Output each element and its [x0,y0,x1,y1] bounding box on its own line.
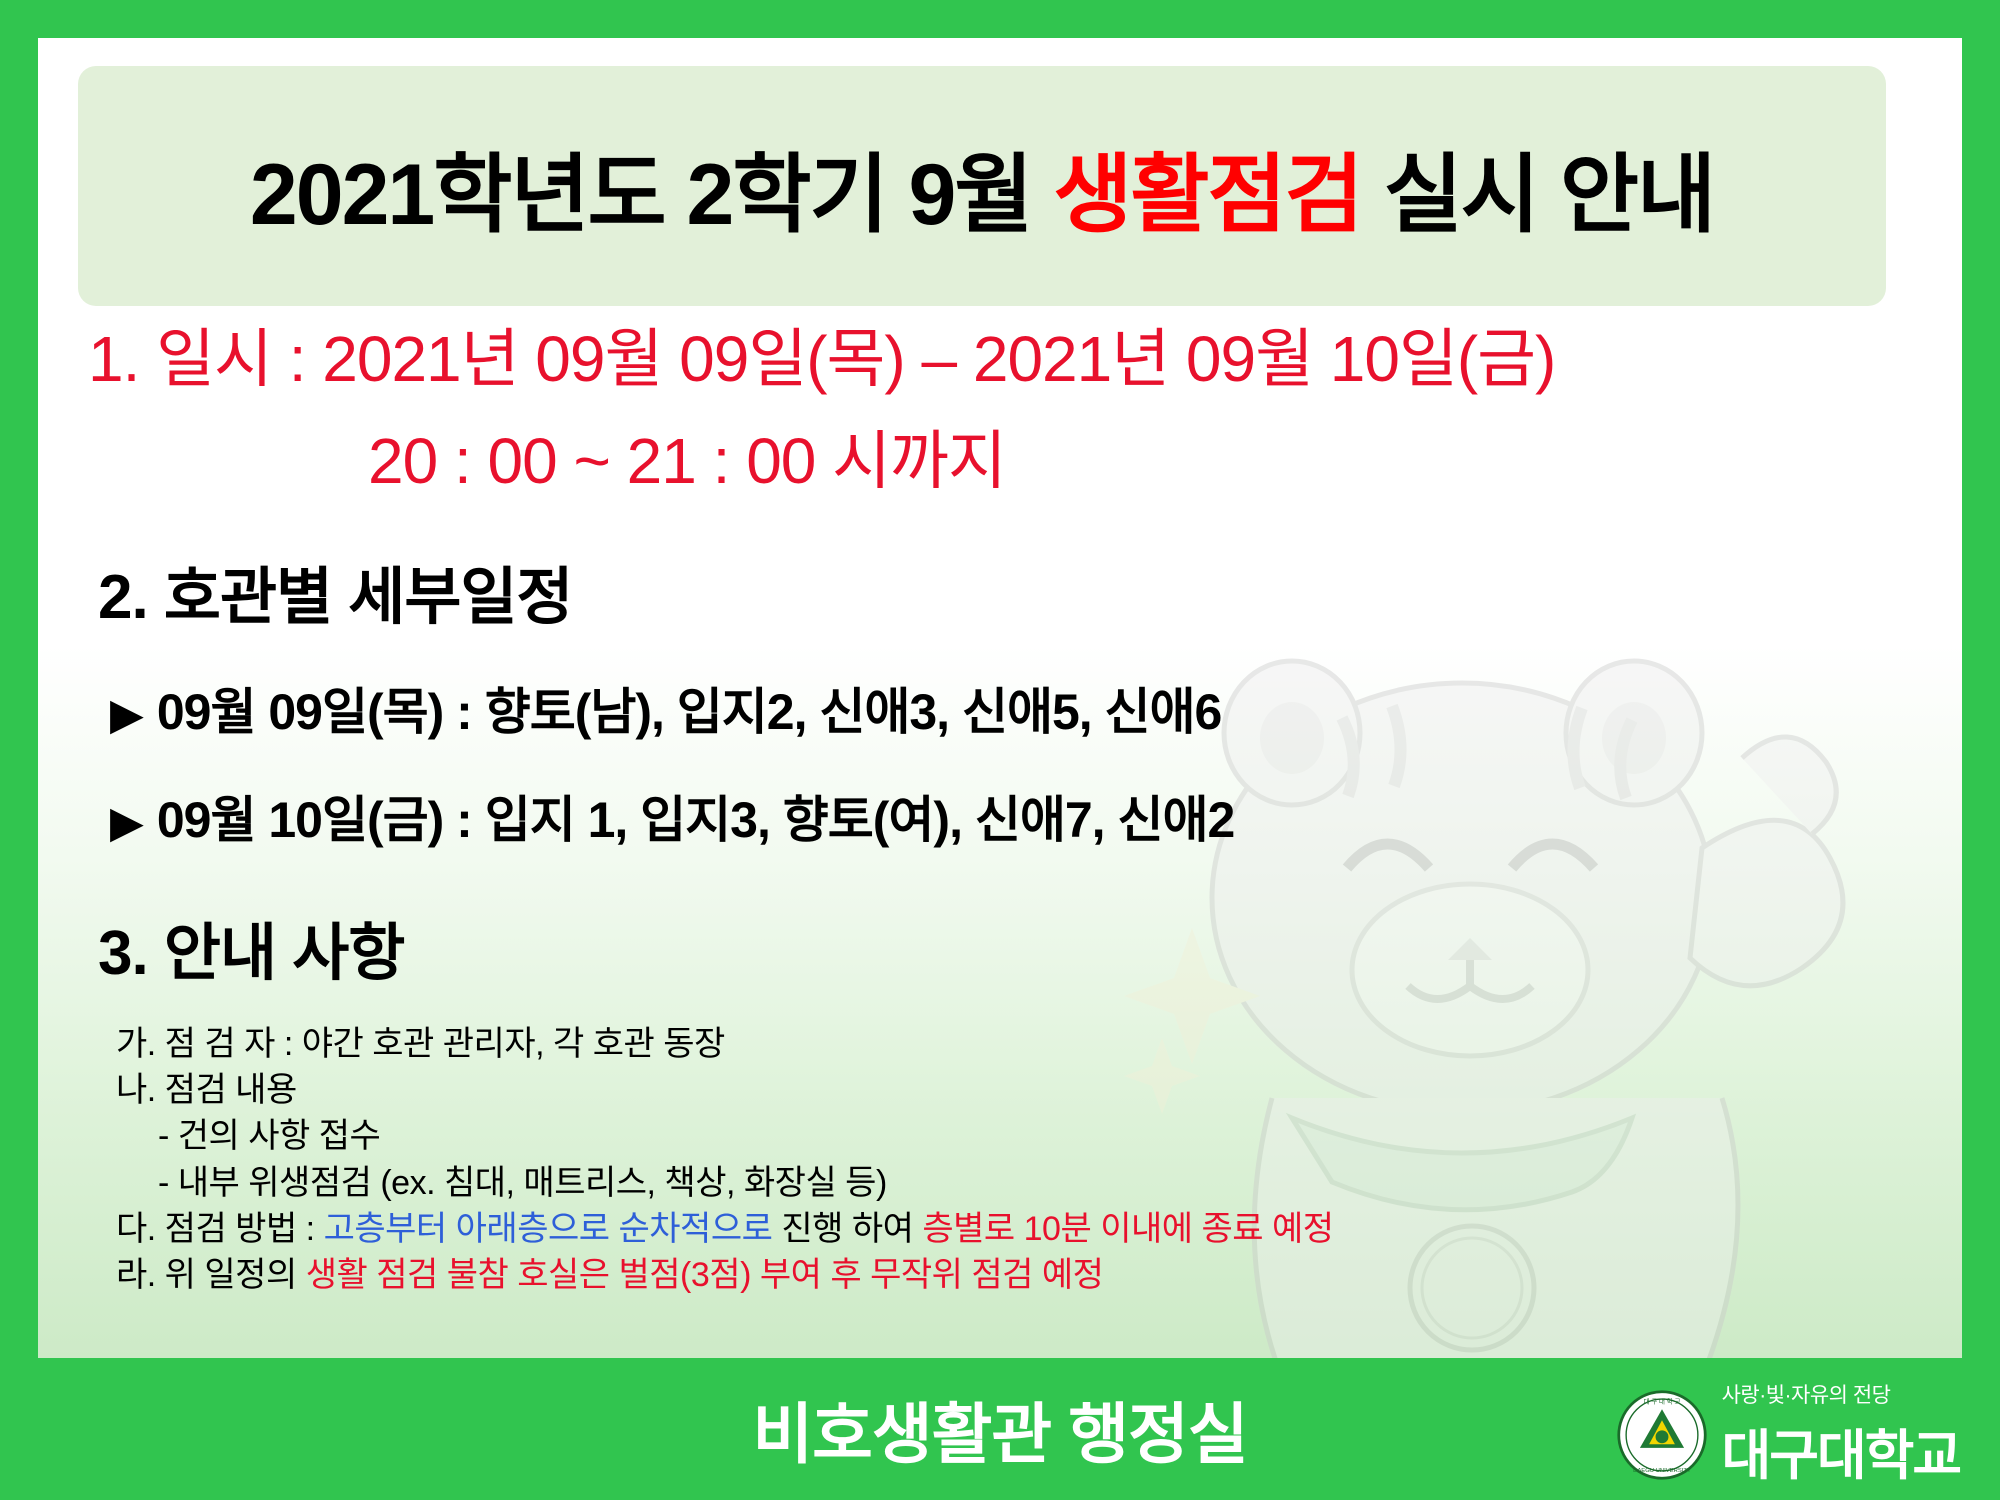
notice-line-na-sub-2: - 내부 위생점검 (ex. 침대, 매트리스, 책상, 화장실 등) [116,1161,1962,1205]
notice-da-red: 층별로 10분 이내에 종료 예정 [922,1210,1333,1248]
building-schedule-text-1: 09월 09일(목) : 향토(남), 입지2, 신애3, 신애5, 신애6 [157,684,1222,740]
notice-line-ga: 가. 점 검 자 : 야간 호관 관리자, 각 호관 동장 [116,1022,1962,1066]
notice-da-prefix: 다. 점검 방법 : [116,1210,324,1248]
section-3-heading: 3. 안내 사항 [38,902,1962,992]
notice-ra-prefix: 라. 위 일정의 [116,1256,306,1294]
schedule-time-line: 20 : 00 ~ 21 : 00 시까지 [38,410,1962,502]
notice-line-na-sub-1: - 건의 사항 접수 [116,1114,1962,1158]
brand-tagline: 사랑·빛·자유의 전당 [1722,1379,1891,1409]
building-schedule-text-2: 09월 10일(금) : 입지 1, 입지3, 향토(여), 신애7, 신애2 [157,792,1234,848]
triangle-bullet-icon: ▶ [110,798,143,847]
triangle-bullet-icon: ▶ [110,690,143,739]
brand-wordmark: 사랑·빛·자유의 전당 대구대학교 [1722,1379,1960,1490]
title-after: 실시 안내 [1362,147,1714,243]
poster-body: 1. 일시 : 2021년 09월 09일(목) – 2021년 09월 10일… [38,308,1962,1297]
title-before: 2021학년도 2학기 9월 [250,147,1053,243]
notice-ra-red: 생활 점검 불참 호실은 벌점(3점) 부여 후 무작위 점검 예정 [306,1256,1104,1294]
title-highlight: 생활점검 [1053,147,1361,243]
university-emblem-icon: 대 구 대 학 교 DAEGU UNIVERSITY [1616,1389,1708,1481]
schedule-datetime-line: 1. 일시 : 2021년 09월 09일(목) – 2021년 09월 10일… [38,308,1962,400]
notice-line-ra: 라. 위 일정의 생활 점검 불참 호실은 벌점(3점) 부여 후 무작위 점검… [116,1253,1962,1297]
notice-detail-block: 가. 점 검 자 : 야간 호관 관리자, 각 호관 동장 나. 점검 내용 -… [38,1022,1962,1297]
brand-name: 대구대학교 [1722,1411,1960,1490]
building-schedule-row-2: ▶09월 10일(금) : 입지 1, 입지3, 향토(여), 신애7, 신애2 [38,780,1962,852]
section-2-heading: 2. 호관별 세부일정 [38,546,1962,636]
title-band: 2021학년도 2학기 9월 생활점검 실시 안내 [78,66,1886,306]
notice-da-mid: 진행 하여 [772,1210,922,1248]
university-brand: 대 구 대 학 교 DAEGU UNIVERSITY 사랑·빛·자유의 전당 대… [1616,1379,1960,1490]
notice-line-na: 나. 점검 내용 [116,1068,1962,1112]
notice-da-blue: 고층부터 아래층으로 순차적으로 [324,1210,773,1248]
footer-office-name: 비호생활관 행정실 [752,1381,1247,1477]
svg-text:대 구 대 학 교: 대 구 대 학 교 [1643,1396,1680,1405]
poster-root: 2021학년도 2학기 9월 생활점검 실시 안내 1. 일시 : 2021년 … [0,0,2000,1500]
building-schedule-row-1: ▶09월 09일(목) : 향토(남), 입지2, 신애3, 신애5, 신애6 [38,672,1962,744]
footer-band: 비호생활관 행정실 대 구 대 학 교 DAEGU UNIVERSITY 사랑·… [0,1358,2000,1500]
notice-line-da: 다. 점검 방법 : 고층부터 아래층으로 순차적으로 진행 하여 층별로 10… [116,1207,1962,1251]
poster-content-card: 2021학년도 2학기 9월 생활점검 실시 안내 1. 일시 : 2021년 … [38,38,1962,1358]
page-title: 2021학년도 2학기 9월 생활점검 실시 안내 [250,124,1714,249]
svg-text:DAEGU UNIVERSITY: DAEGU UNIVERSITY [1633,1467,1691,1473]
